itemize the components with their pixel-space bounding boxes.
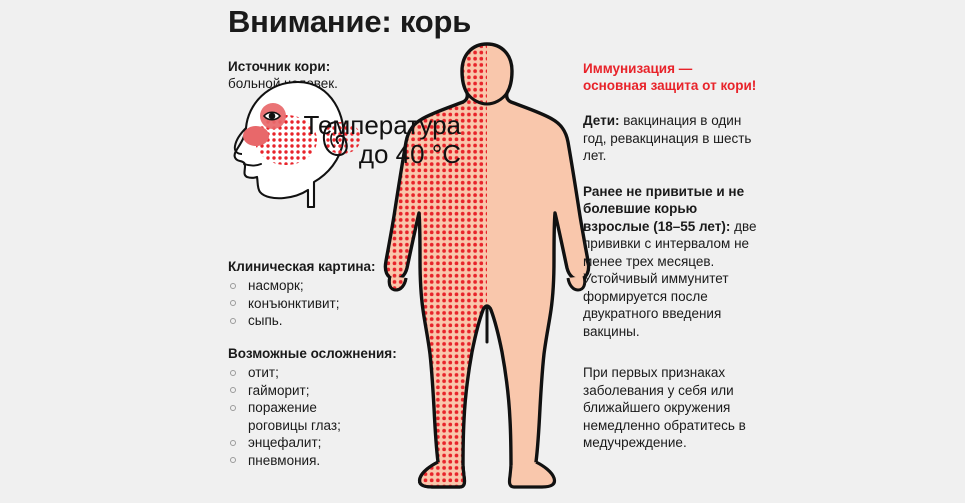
right-column: Иммунизация — основная защита от кори! Д…: [583, 60, 758, 452]
bullet-icon: [230, 300, 236, 306]
body-figure-illustration: [380, 38, 595, 498]
list-item-label: отит;: [248, 365, 279, 380]
list-item-label: поражение: [248, 400, 317, 415]
immunization-headline: Иммунизация — основная защита от кори!: [583, 60, 758, 94]
children-label: Дети:: [583, 113, 620, 128]
bullet-icon: [230, 370, 236, 376]
adults-paragraph: Ранее не привитые и не болевшие корью вз…: [583, 183, 758, 341]
adults-label: Ранее не привитые и не болевшие корью вз…: [583, 184, 744, 234]
bullet-icon: [230, 318, 236, 324]
bullet-icon: [230, 283, 236, 289]
list-item-label: пневмония.: [248, 453, 320, 468]
list-item-label: насморк;: [248, 278, 304, 293]
bullet-icon: [230, 457, 236, 463]
first-signs-paragraph: При первых признаках заболевания у себя …: [583, 364, 758, 452]
bullet-icon: [230, 405, 236, 411]
list-item-label: гайморит;: [248, 383, 309, 398]
temperature-line-2: до 40 °C: [256, 140, 461, 169]
list-item-label: роговицы глаз;: [248, 418, 341, 433]
adults-text: две прививки с интервалом не менее трех …: [583, 219, 756, 339]
temperature-line-1: Температура: [256, 111, 461, 140]
list-item-label: конъюнктивит;: [248, 296, 339, 311]
list-item-label: сыпь.: [248, 313, 283, 328]
infographic-canvas: Внимание: корь Источник кори: больной че…: [0, 0, 965, 500]
children-paragraph: Дети: вакцинация в один год, ревакцинаци…: [583, 112, 758, 165]
page-title: Внимание: корь: [228, 4, 471, 40]
temperature-callout: Температура до 40 °C: [256, 111, 461, 169]
bullet-icon: [230, 387, 236, 393]
bullet-icon: [230, 440, 236, 446]
first-signs-text: При первых признаках заболевания у себя …: [583, 365, 746, 450]
list-item-label: энцефалит;: [248, 435, 321, 450]
source-heading: Источник кори:: [228, 58, 338, 75]
